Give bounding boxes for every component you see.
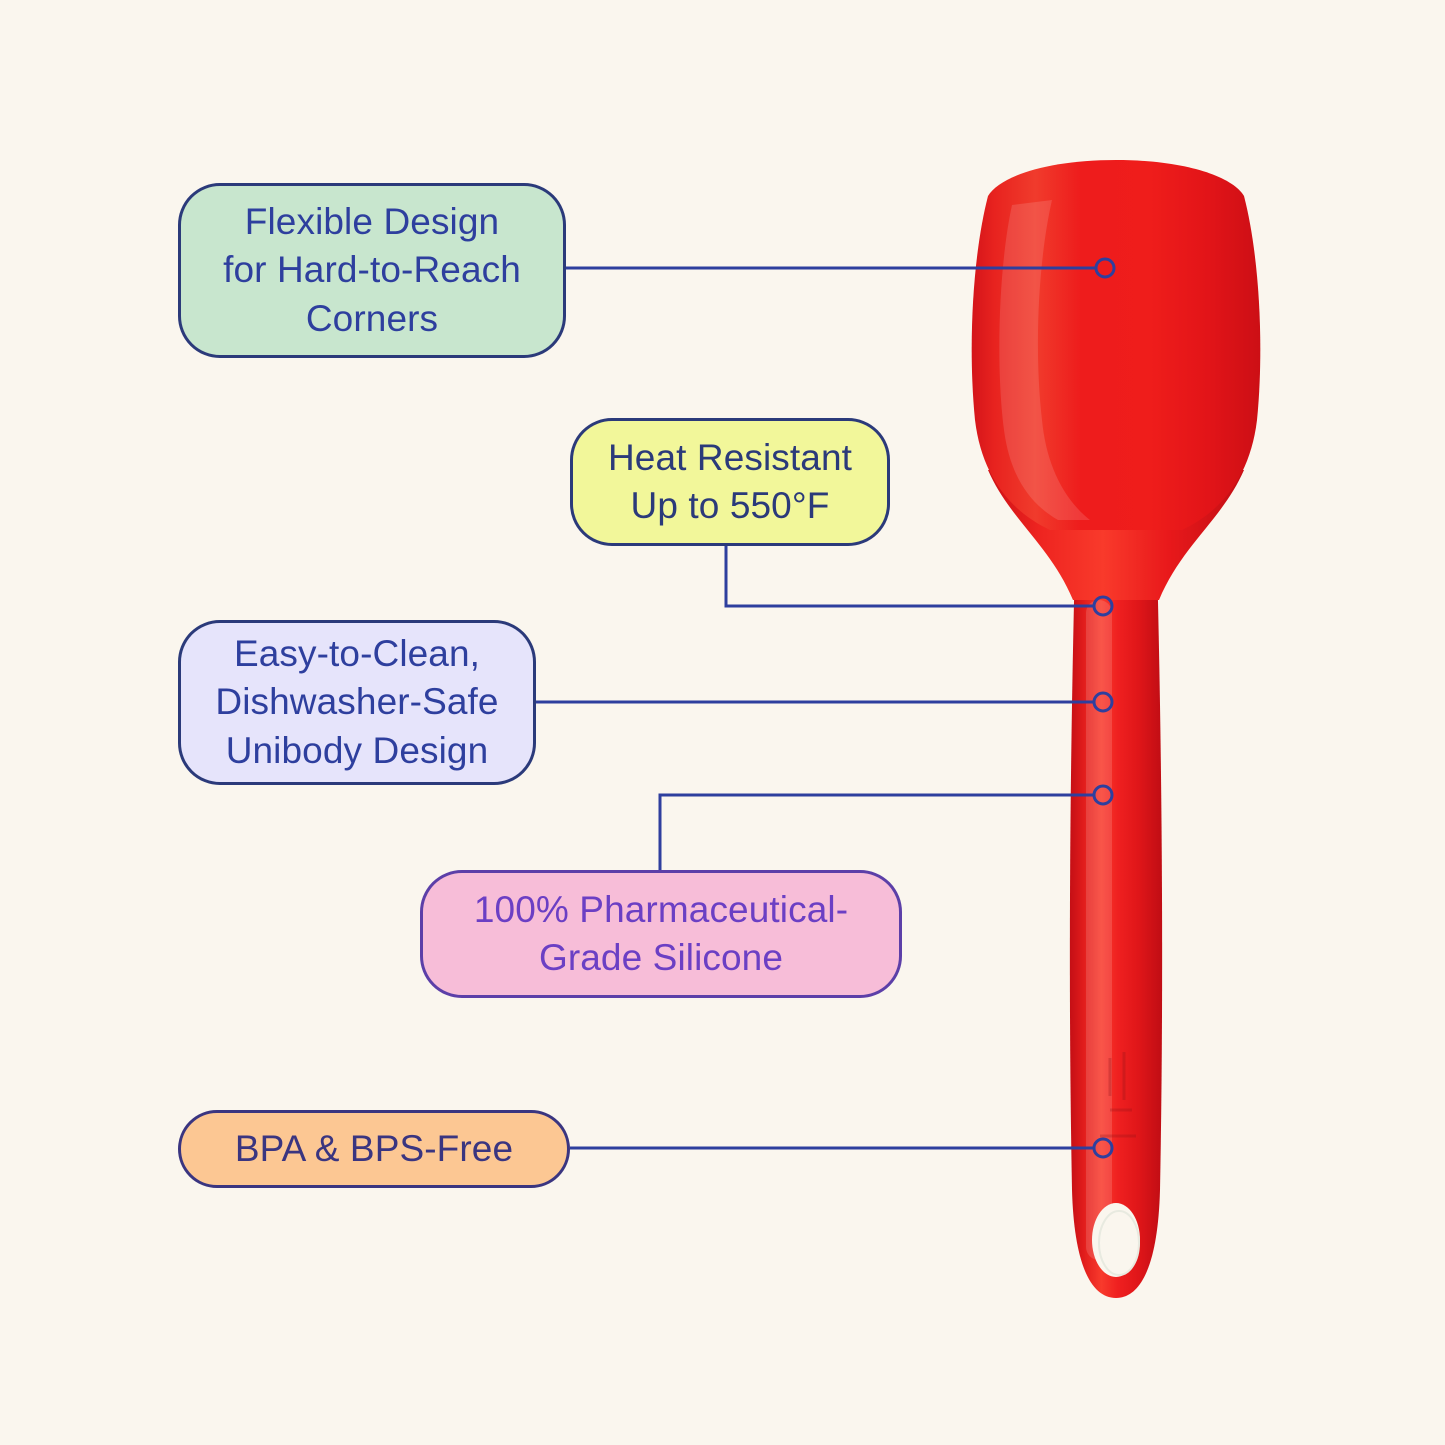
callout-bpa-bps-free[interactable]: BPA & BPS-Free [178, 1110, 570, 1188]
callout-flexible-design[interactable]: Flexible Design for Hard-to-Reach Corner… [178, 183, 566, 358]
connector-easy-to-clean [536, 693, 1112, 711]
callout-label: Heat Resistant Up to 550°F [608, 434, 852, 530]
callout-label: Easy-to-Clean, Dishwasher-Safe Unibody D… [215, 630, 498, 774]
connector-endpoint [1094, 693, 1112, 711]
connector-endpoint [1094, 597, 1112, 615]
connector-bpa-bps-free [570, 1139, 1112, 1157]
connector-pharmaceutical-grade [660, 786, 1112, 870]
callout-label: Flexible Design for Hard-to-Reach Corner… [223, 198, 521, 342]
callout-heat-resistant[interactable]: Heat Resistant Up to 550°F [570, 418, 890, 546]
callout-pharmaceutical-grade[interactable]: 100% Pharmaceutical- Grade Silicone [420, 870, 902, 998]
connector-endpoint [1094, 1139, 1112, 1157]
connector-endpoint [1096, 259, 1114, 277]
infographic-canvas: Flexible Design for Hard-to-Reach Corner… [0, 0, 1445, 1445]
connector-flexible-design [566, 259, 1114, 277]
callout-easy-to-clean[interactable]: Easy-to-Clean, Dishwasher-Safe Unibody D… [178, 620, 536, 785]
callout-label: BPA & BPS-Free [235, 1125, 513, 1173]
callout-label: 100% Pharmaceutical- Grade Silicone [474, 886, 848, 982]
connector-heat-resistant [726, 546, 1112, 615]
connector-endpoint [1094, 786, 1112, 804]
